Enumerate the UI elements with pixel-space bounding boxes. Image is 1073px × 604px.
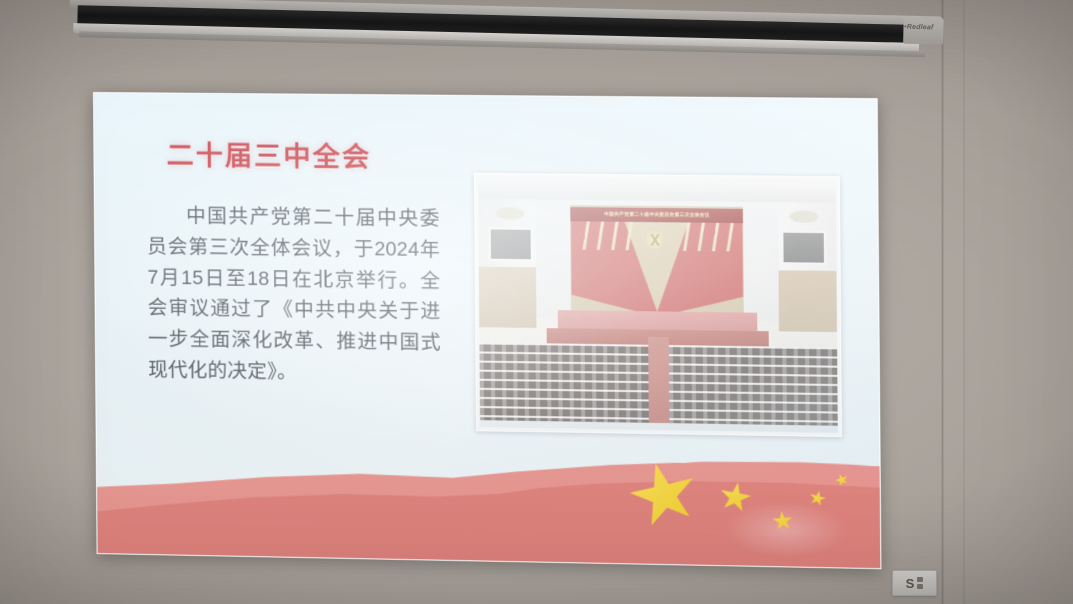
- wall-seam-right: [963, 0, 965, 604]
- wall-plate[interactable]: S: [892, 570, 937, 596]
- wall-plate-key-bottom: [917, 584, 923, 589]
- wall-seam-left: [941, 0, 944, 604]
- classroom-wall-scene: •Redleaf S: [0, 0, 1073, 604]
- wall-surface: [0, 0, 1073, 604]
- wall-plate-key-top: [917, 577, 923, 582]
- wall-plate-keys-icon: [917, 577, 923, 589]
- housing-brand-label: •Redleaf: [904, 24, 934, 32]
- brand-name: Redleaf: [907, 24, 934, 32]
- wall-plate-label: S: [906, 577, 915, 590]
